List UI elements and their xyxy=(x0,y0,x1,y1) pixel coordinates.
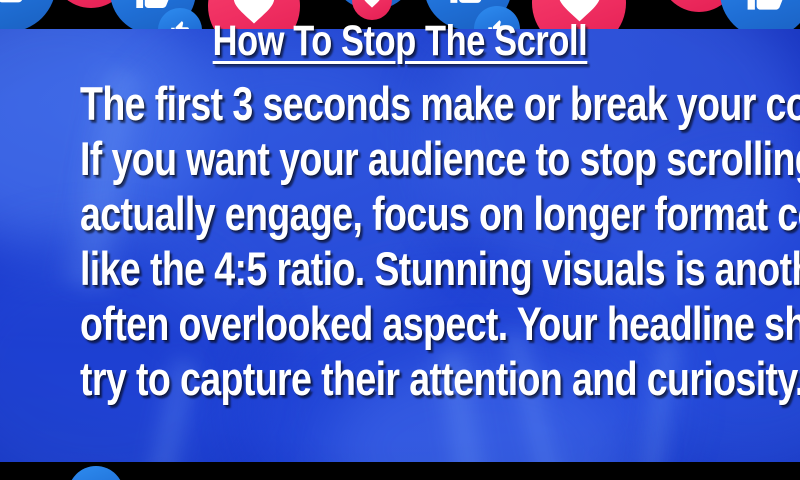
poster-body-line: often overlooked aspect. Your headline s… xyxy=(80,296,720,351)
poster-body-line: If you want your audience to stop scroll… xyxy=(80,131,720,186)
poster-body-line: like the 4:5 ratio. Stunning visuals is … xyxy=(80,241,720,296)
poster-body-line: The first 3 seconds make or break your c… xyxy=(80,76,720,131)
poster-canvas: How To Stop The Scroll The first 3 secon… xyxy=(0,0,800,480)
poster-body-line: try to capture their attention and curio… xyxy=(80,351,720,406)
poster-content: How To Stop The Scroll The first 3 secon… xyxy=(0,0,800,480)
poster-body-text: The first 3 seconds make or break your c… xyxy=(80,76,720,406)
poster-body-line: actually engage, focus on longer format … xyxy=(80,186,720,241)
page-title: How To Stop The Scroll xyxy=(80,20,720,64)
